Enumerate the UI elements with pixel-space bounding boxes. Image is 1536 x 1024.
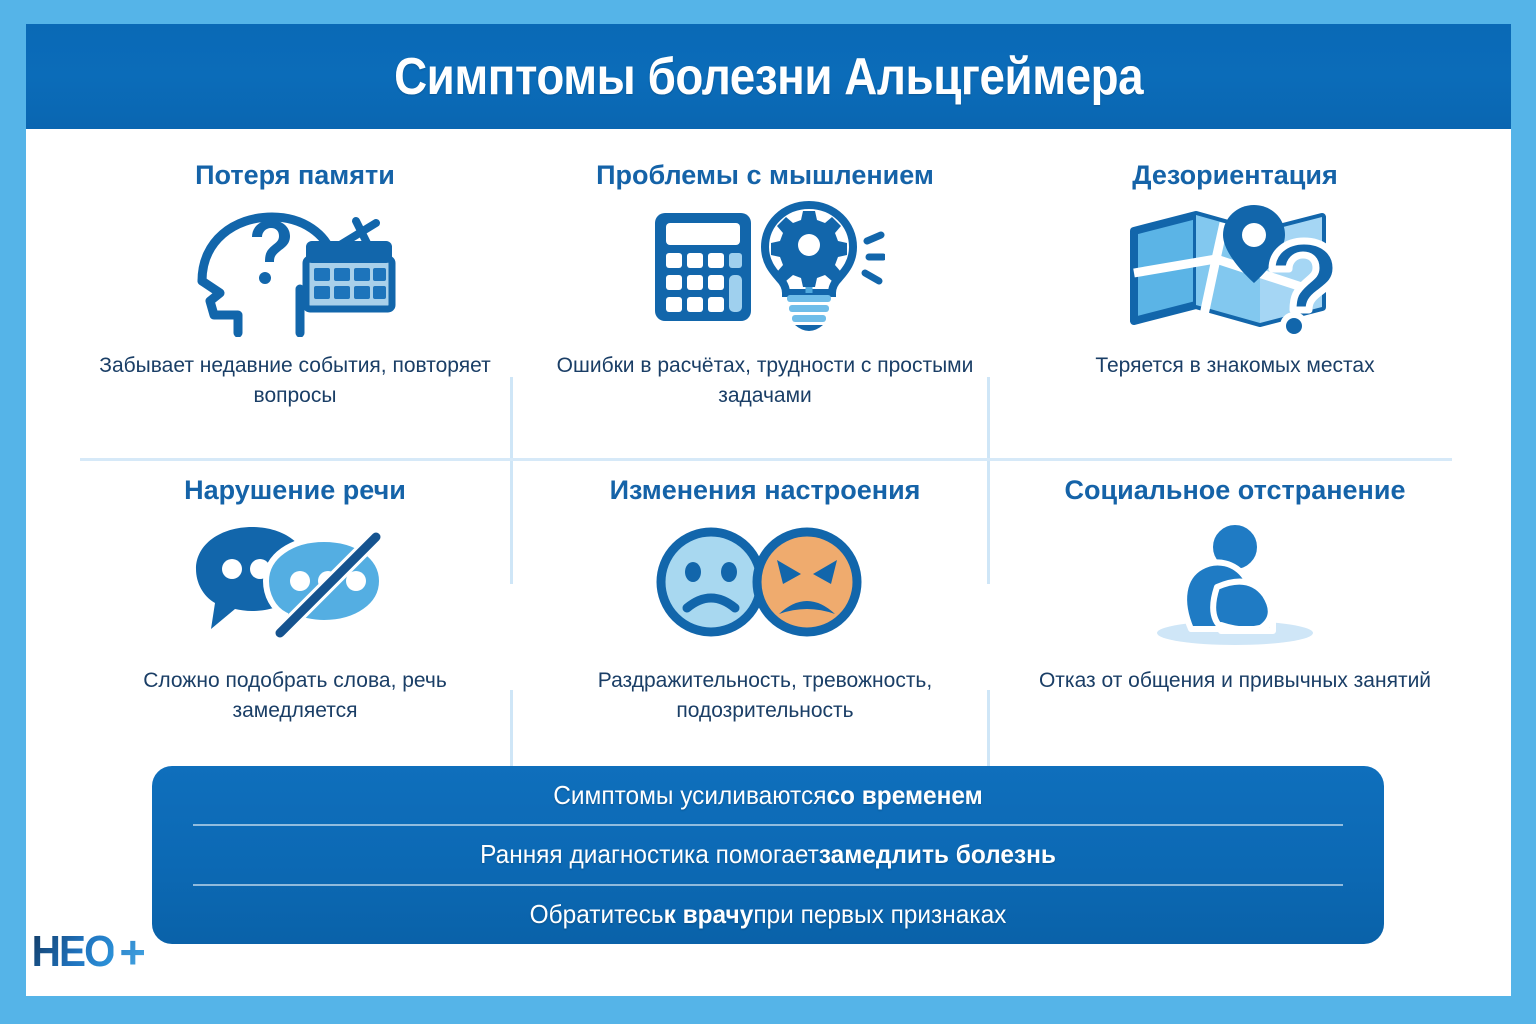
speech-bubbles-slash-icon <box>175 512 415 652</box>
card-description: Сложно подобрать слова, речь замедляется <box>85 666 505 726</box>
footer-panel: Симптомы усиливаются со временем Ранняя … <box>152 766 1384 944</box>
symptom-grid: Потеря памяти <box>60 152 1480 762</box>
calculator-lightbulb-gear-icon <box>645 197 885 337</box>
symptom-card-mood-changes[interactable]: Изменения настроения Р <box>530 467 1000 767</box>
footer-line-plain: Обратитесь <box>530 899 664 930</box>
symptom-card-thinking-problems[interactable]: Проблемы с мышлением <box>530 152 1000 452</box>
card-title: Изменения настроения <box>610 475 921 506</box>
header-bar: Симптомы болезни Альцгеймера <box>26 24 1511 129</box>
symptom-card-social-withdrawal[interactable]: Социальное отстранение Отказ от общения … <box>1000 467 1470 767</box>
grid-divider-vertical <box>510 377 513 584</box>
card-title: Проблемы с мышлением <box>596 160 934 191</box>
footer-line-strong: со временем <box>826 780 982 811</box>
footer-line-strong: к врачу <box>664 899 754 930</box>
grid-divider-vertical <box>987 377 990 584</box>
card-title: Нарушение речи <box>184 475 406 506</box>
card-description: Раздражительность, тревожность, подозрит… <box>555 666 975 726</box>
logo-plus-icon: + <box>119 925 144 979</box>
card-description: Отказ от общения и привычных занятий <box>1039 666 1431 696</box>
footer-line-plain: Ранняя диагностика помогает <box>480 839 819 870</box>
card-title: Дезориентация <box>1132 160 1337 191</box>
page-title: Симптомы болезни Альцгеймера <box>394 47 1143 107</box>
grid-divider-horizontal <box>80 458 1452 461</box>
logo-text: НЕО <box>32 927 114 977</box>
card-description: Ошибки в расчётах, трудности с простыми … <box>555 351 975 411</box>
card-description: Забывает недавние события, повторяет воп… <box>85 351 505 411</box>
card-title: Потеря памяти <box>195 160 395 191</box>
footer-line-plain: Симптомы усиливаются <box>553 780 826 811</box>
infographic-root: Симптомы болезни Альцгеймера Потеря памя… <box>0 0 1536 1024</box>
symptom-card-speech-impairment[interactable]: Нарушение речи <box>60 467 530 767</box>
card-title: Социальное отстранение <box>1065 475 1406 506</box>
map-pin-question-icon <box>1115 197 1355 337</box>
symptom-row-1: Потеря памяти <box>60 152 1480 452</box>
footer-line-tail: при первых признаках <box>753 899 1006 930</box>
sad-angry-faces-icon <box>645 512 885 652</box>
footer-line: Симптомы усиливаются со временем <box>189 766 1347 824</box>
card-description: Теряется в знакомых местах <box>1095 351 1374 381</box>
brand-logo: НЕО + <box>28 925 144 979</box>
symptom-card-memory-loss[interactable]: Потеря памяти <box>60 152 530 452</box>
person-sitting-alone-icon <box>1115 512 1355 652</box>
head-question-calendar-icon <box>175 197 415 337</box>
symptom-row-2: Нарушение речи <box>60 467 1480 767</box>
footer-line-strong: замедлить болезнь <box>819 839 1056 870</box>
footer-line: Обратитесь к врачу при первых признаках <box>189 886 1347 944</box>
symptom-card-disorientation[interactable]: Дезориентация <box>1000 152 1470 452</box>
footer-line: Ранняя диагностика помогает замедлить бо… <box>189 826 1347 884</box>
